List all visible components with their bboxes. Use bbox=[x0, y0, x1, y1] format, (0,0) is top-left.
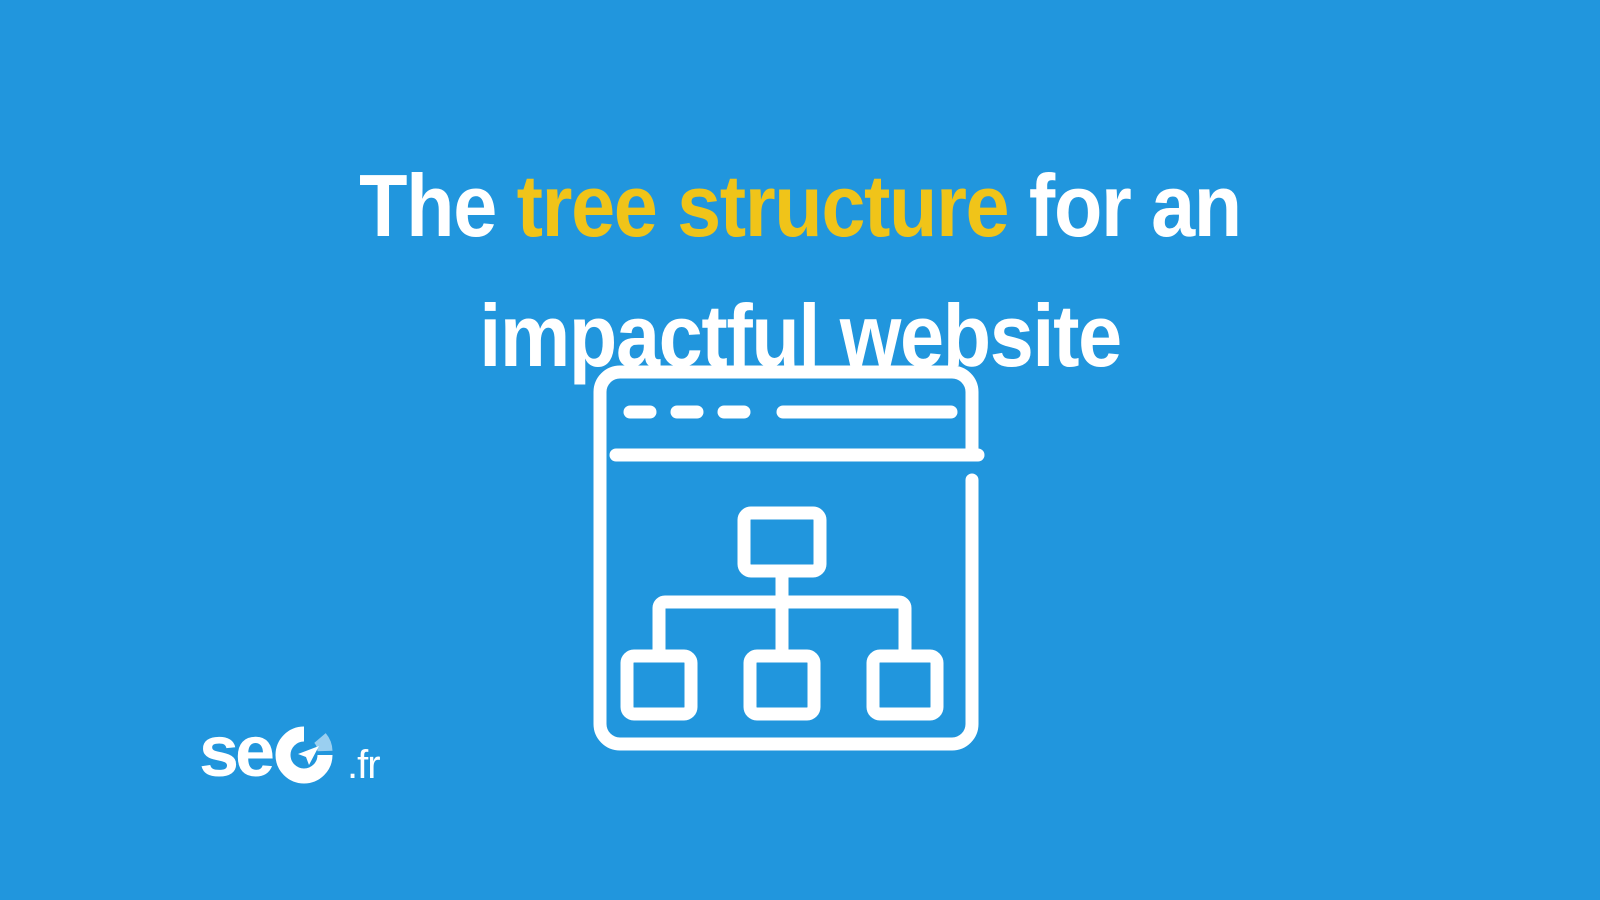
slide-canvas: The tree structure for an impactful webs… bbox=[0, 0, 1600, 900]
brand-tld-text: .fr bbox=[347, 743, 380, 787]
page-title-line-1-suffix: for an bbox=[1008, 156, 1241, 255]
sitemap-node-root bbox=[744, 513, 820, 571]
brand-wordmark-text: se bbox=[199, 712, 273, 792]
browser-window-frame bbox=[600, 372, 972, 744]
sitemap-tree bbox=[627, 513, 937, 714]
page-title-line-1-prefix: The bbox=[359, 156, 516, 255]
brand-logo[interactable]: se .fr bbox=[202, 716, 432, 792]
sitemap-node-child-3 bbox=[873, 656, 937, 714]
sitemap-node-child-1 bbox=[627, 656, 691, 714]
browser-sitemap-illustration bbox=[586, 360, 978, 758]
brand-ring-arc-fade bbox=[320, 738, 325, 751]
sitemap-node-child-2 bbox=[750, 656, 814, 714]
page-title-highlight: tree structure bbox=[517, 156, 1009, 255]
page-title-line-1: The tree structure for an bbox=[80, 141, 1520, 271]
